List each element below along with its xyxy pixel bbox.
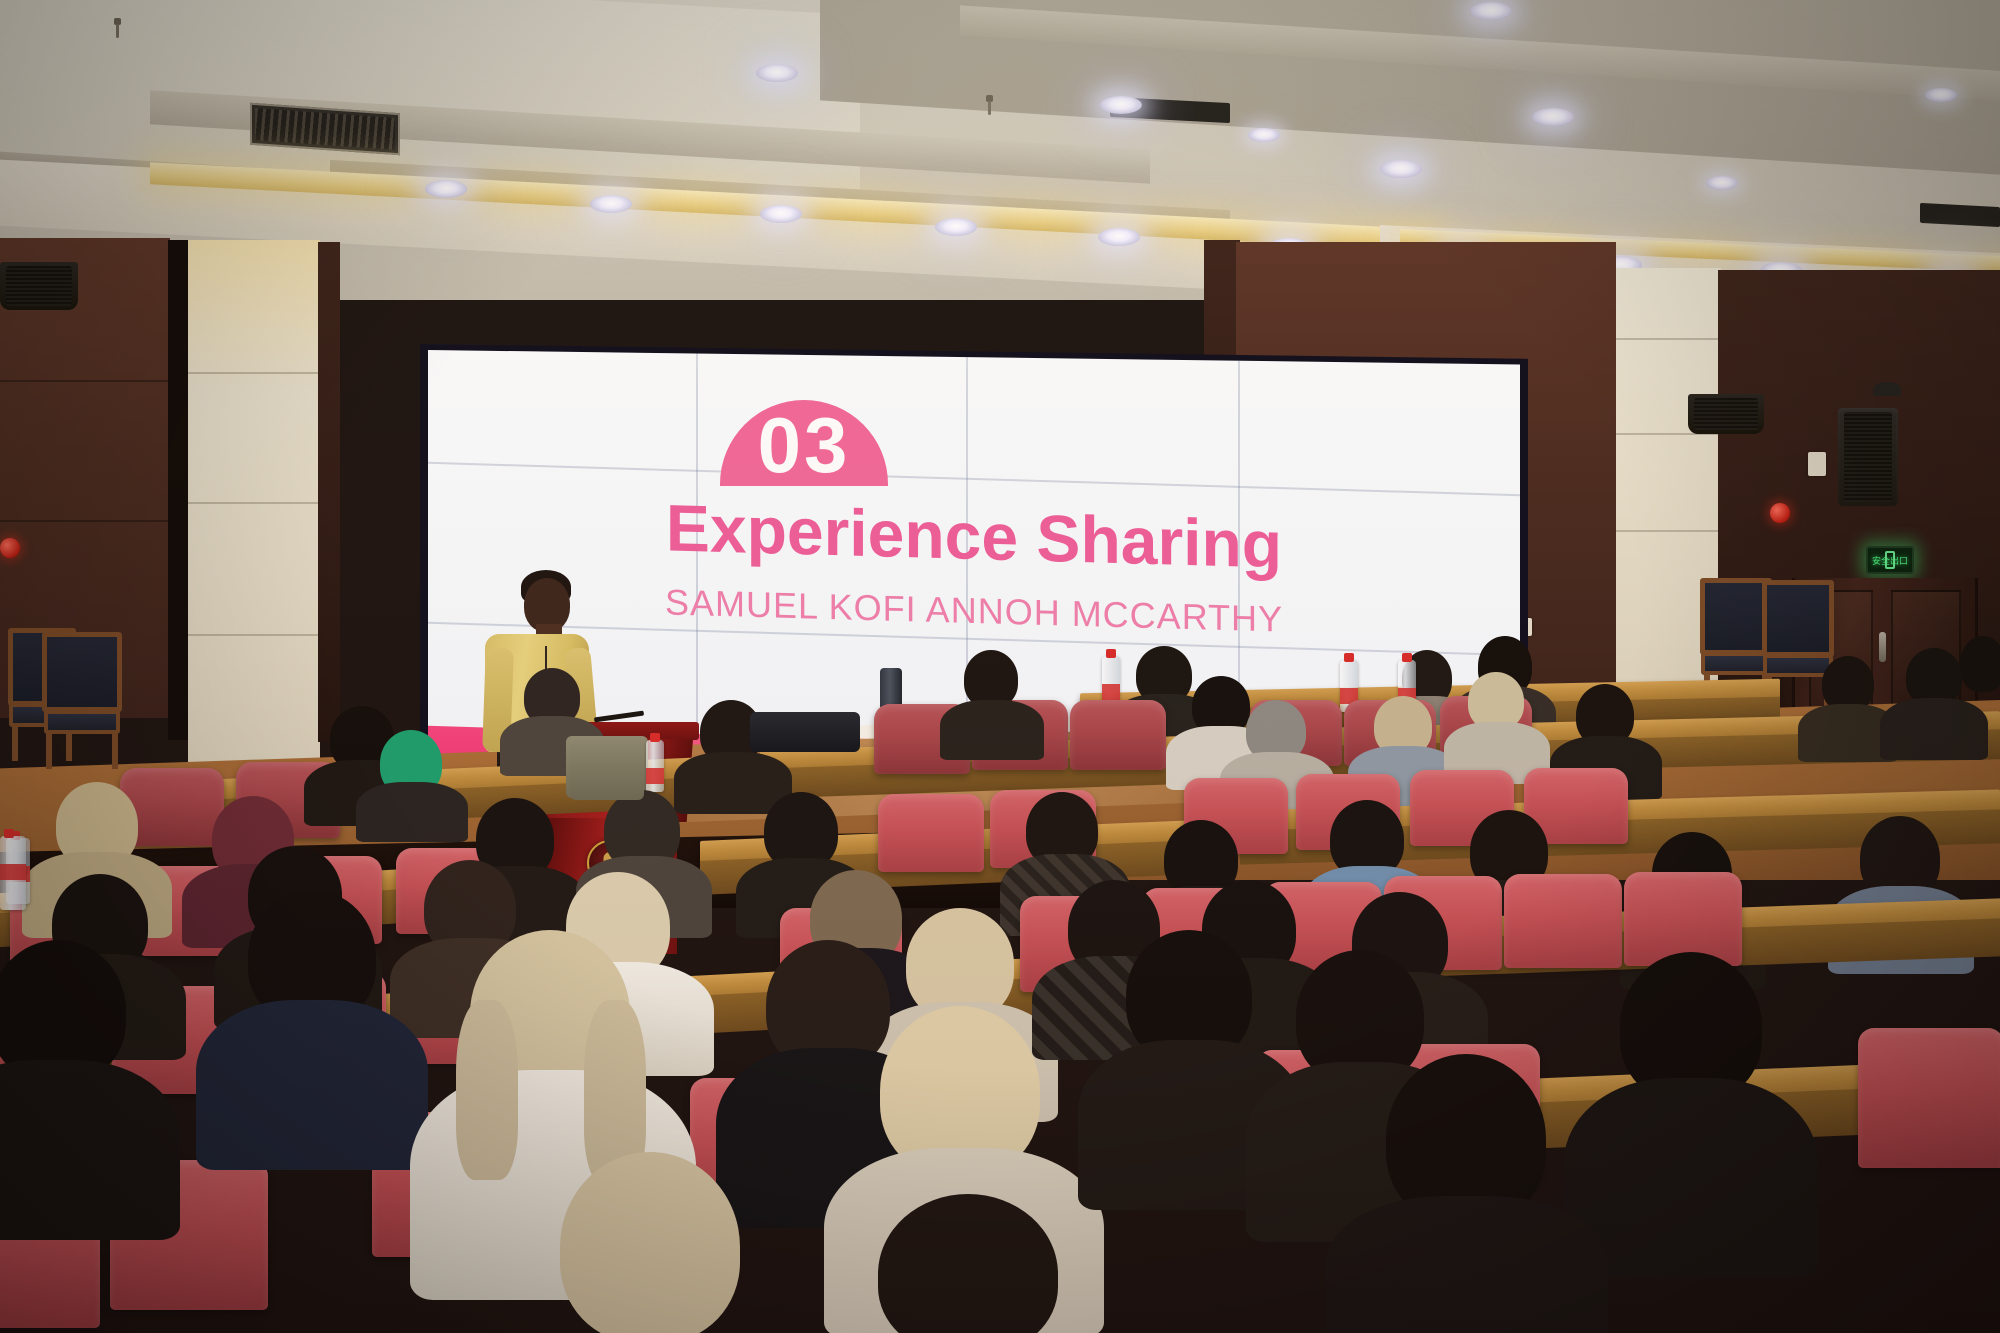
wall-wood-left-inner: [318, 242, 340, 742]
ceiling-light-1: [425, 180, 467, 198]
slide-title: Experience Sharing: [428, 483, 1520, 590]
pillar-right-seam-3: [1613, 530, 1721, 532]
emergency-exit-sign: 安全出口: [1866, 546, 1914, 574]
seat-front-9[interactable]: [1858, 1028, 2000, 1168]
pillar-left-seam-1: [188, 372, 320, 374]
water-bottle-front-left: [0, 836, 26, 910]
ceiling-light-18: [1248, 128, 1280, 142]
air-vent-upper-far-right: [1920, 203, 2000, 227]
auditorium-scene: 安全出口 03 Experience Sharing SAMUEL KOFI A…: [0, 0, 2000, 1333]
wall-speaker-left: [0, 262, 78, 310]
ceiling-light-7: [1098, 228, 1140, 246]
ceiling-light-5: [935, 218, 977, 236]
pillar-left-seam-3: [188, 634, 320, 636]
audience-shoulders-r2-d: [940, 700, 1044, 760]
audience-shoulders-front-i: [1326, 1196, 1608, 1333]
laptop-bag-r2: [750, 712, 860, 752]
pillar-right-seam-1: [1613, 338, 1721, 340]
audience-hair-front-c-lock: [456, 1000, 518, 1180]
door-handle[interactable]: [1879, 632, 1886, 662]
audience-shoulders-front-a: [0, 1060, 180, 1240]
wall-seam-l2: [0, 520, 170, 522]
ceiling-light-2: [590, 195, 632, 213]
audience-head-r1-d: [1960, 636, 2000, 692]
light-switch-right: [1808, 452, 1826, 476]
seat-r4-10[interactable]: [1504, 874, 1622, 968]
audience-shoulders-r2-green: [356, 782, 468, 842]
running-person-icon: [1885, 551, 1895, 569]
camera-dome-right: [1873, 382, 1901, 396]
fire-sprinkler-left: [112, 18, 123, 40]
pillar-left-light-wash: [188, 240, 320, 390]
ceiling-light-16: [1925, 88, 1957, 102]
wall-speaker-right-upper: [1688, 394, 1764, 434]
ceiling-light-14: [1532, 108, 1574, 126]
ceiling-light-3: [756, 64, 798, 82]
seat-r3-5[interactable]: [878, 794, 984, 872]
water-bottle-r2-a: [646, 740, 664, 792]
pillar-left-seam-2: [188, 502, 320, 504]
side-chair-left-b[interactable]: [42, 632, 122, 766]
wall-speaker-right: [1838, 408, 1898, 506]
fire-alarm-left: [0, 538, 20, 558]
seat-r2-5[interactable]: [1070, 700, 1166, 770]
slide-section-badge: 03: [720, 400, 888, 486]
ceiling-light-4: [760, 205, 802, 223]
fire-alarm-right: [1770, 503, 1790, 523]
handbag-r3: [570, 742, 644, 800]
slide-presenter-name: SAMUEL KOFI ANNOH MCCARTHY: [428, 575, 1520, 648]
ceiling-light-9: [1380, 160, 1422, 178]
ceiling-light-6: [1100, 96, 1142, 114]
wall-recess-left: [168, 240, 190, 740]
ceiling-light-17: [1706, 176, 1738, 190]
fire-sprinkler-mid: [984, 95, 995, 117]
audience-head-front-j: [560, 1152, 740, 1333]
slide-section-number: 03: [758, 408, 851, 486]
wall-seam-l1: [0, 380, 170, 382]
screen-glare: [428, 350, 1520, 470]
audience-shoulders-front-b: [196, 1000, 428, 1170]
audience-shoulders-r2-k: [1880, 698, 1988, 760]
pillar-left: [188, 240, 320, 770]
ceiling-light-11: [1470, 2, 1512, 20]
